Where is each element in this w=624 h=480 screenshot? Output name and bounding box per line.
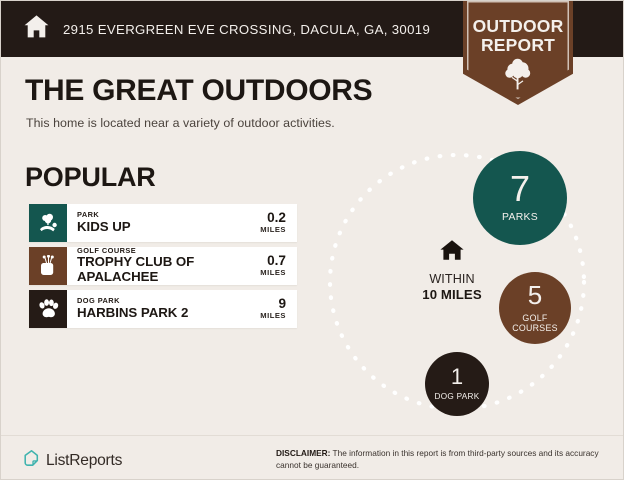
distance-unit: MILES (260, 311, 286, 321)
distance-unit: MILES (260, 225, 286, 235)
list-item-name: TROPHY CLUB OF APALACHEE (77, 255, 224, 285)
stat-bubble-parks[interactable]: 7 PARKS (473, 151, 567, 245)
stat-label: DOG PARK (434, 392, 479, 402)
outdoor-report-badge: OUTDOOR REPORT (463, 1, 573, 105)
list-item-distance: 0.2 MILES (224, 204, 297, 242)
badge-line-1: OUTDOOR (463, 18, 573, 36)
listreports-house-icon (23, 449, 40, 472)
stat-bubble-dog-park[interactable]: 1 DOG PARK (425, 352, 489, 416)
listreports-wordmark: ListReports (46, 452, 122, 470)
list-item-distance: 9 MILES (224, 290, 297, 328)
stat-count: 7 (510, 172, 530, 206)
stat-bubble-golf-courses[interactable]: 5 GOLF COURSES (499, 272, 571, 344)
stat-label: GOLF COURSES (499, 313, 571, 333)
distance-unit: MILES (260, 268, 286, 278)
property-address: 2915 EVERGREEN EVE CROSSING, DACULA, GA,… (63, 22, 430, 37)
list-item[interactable]: PARK KIDS UP 0.2 MILES (29, 204, 297, 242)
list-item-text: GOLF COURSE TROPHY CLUB OF APALACHEE (67, 247, 224, 285)
within-text: WITHIN (397, 272, 507, 287)
disclaimer-label: DISCLAIMER: (276, 448, 330, 458)
distance-value: 0.7 (267, 254, 286, 268)
address-bar-content: 2915 EVERGREEN EVE CROSSING, DACULA, GA,… (23, 1, 430, 57)
diagram-center-label: WITHIN 10 MILES (397, 239, 507, 303)
distance-value: 9 (278, 297, 286, 311)
tree-icon (503, 58, 533, 95)
radius-text: 10 MILES (397, 287, 507, 303)
listreports-logo[interactable]: ListReports (23, 449, 122, 472)
list-item-text: PARK KIDS UP (67, 204, 224, 242)
list-item-text: DOG PARK HARBINS PARK 2 (67, 290, 224, 328)
disclaimer: DISCLAIMER: The information in this repo… (276, 447, 606, 472)
list-item[interactable]: DOG PARK HARBINS PARK 2 9 MILES (29, 290, 297, 328)
list-item[interactable]: GOLF COURSE TROPHY CLUB OF APALACHEE 0.7… (29, 247, 297, 285)
footer-divider (1, 435, 624, 436)
popular-list: PARK KIDS UP 0.2 MILES (29, 204, 297, 333)
home-icon (397, 239, 507, 266)
page-subtitle: This home is located near a variety of o… (26, 116, 335, 130)
outdoor-report-infographic: 2915 EVERGREEN EVE CROSSING, DACULA, GA,… (0, 0, 624, 480)
paw-print-icon (29, 290, 67, 328)
distance-value: 0.2 (267, 211, 286, 225)
list-item-name: KIDS UP (77, 220, 224, 235)
home-icon (23, 14, 50, 44)
popular-heading: POPULAR (25, 164, 156, 191)
park-icon (29, 204, 67, 242)
stat-label: PARKS (502, 213, 538, 223)
list-item-distance: 0.7 MILES (224, 247, 297, 285)
page-title: THE GREAT OUTDOORS (25, 76, 372, 106)
list-item-name: HARBINS PARK 2 (77, 306, 224, 321)
badge-line-2: REPORT (463, 37, 573, 55)
stat-count: 5 (528, 283, 542, 307)
golf-bag-icon (29, 247, 67, 285)
stat-count: 1 (451, 367, 463, 388)
within-10-miles-diagram: 7 PARKS 5 GOLF COURSES 1 DOG PARK WITHIN… (321, 139, 621, 424)
